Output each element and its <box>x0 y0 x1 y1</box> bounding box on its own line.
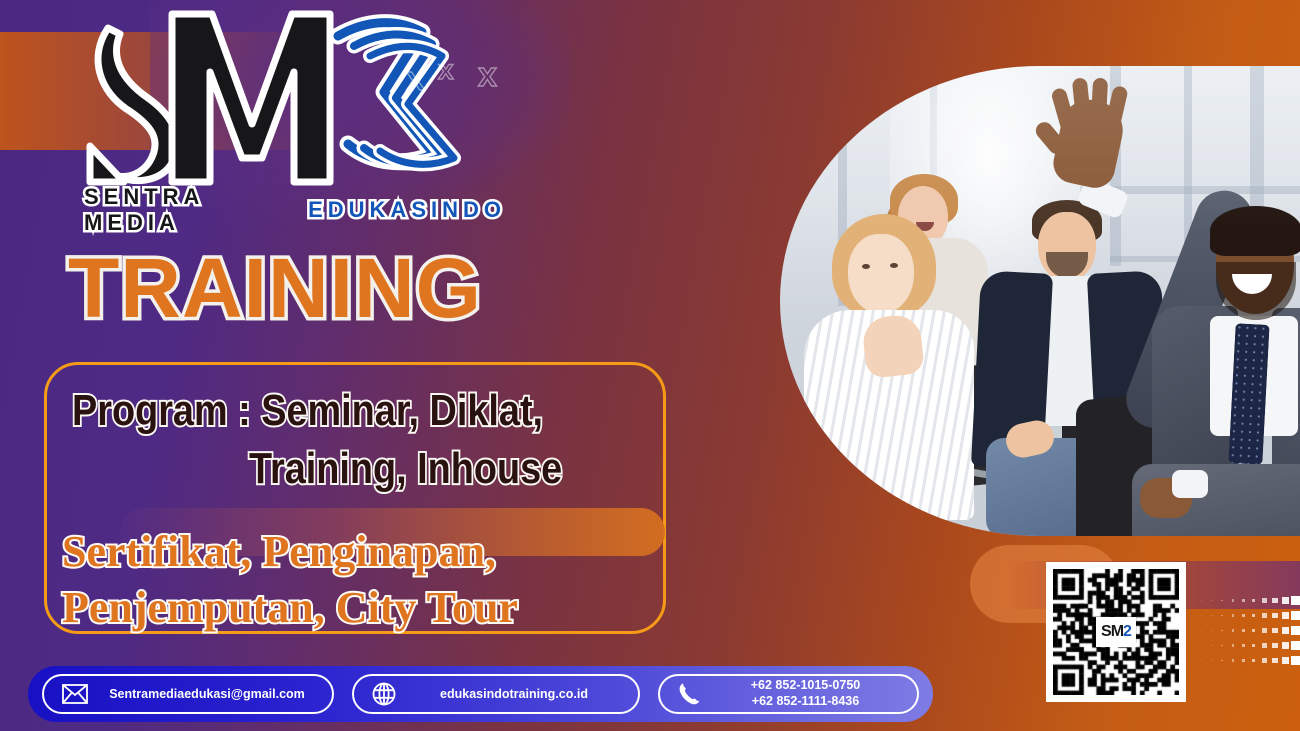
decor-dot <box>1232 644 1234 646</box>
decor-dot <box>1272 613 1278 619</box>
contact-phone-1: +62 852-1015-0750 <box>712 678 899 694</box>
seminar-photo <box>780 66 1300 536</box>
logo-wordmark: SENTRA MEDIA EDUKASINDO <box>84 184 506 236</box>
promo-banner: x x x SENTRA MEDIA EDUKASINDO TRAINING P… <box>0 0 1300 731</box>
contact-phone-2: +62 852-1111-8436 <box>712 694 899 710</box>
decor-dot <box>1242 614 1245 617</box>
qr-code[interactable]: SM2 <box>1046 562 1186 702</box>
decor-dot <box>1272 658 1278 664</box>
decor-dot <box>1201 600 1202 601</box>
decor-dot <box>1291 656 1300 665</box>
page-title: TRAINING <box>68 246 482 330</box>
photo-scene <box>780 66 1300 536</box>
contact-website-text: edukasindotraining.co.id <box>408 687 620 701</box>
decor-dot <box>1232 614 1234 616</box>
decor-dot <box>1262 628 1267 633</box>
decor-dot <box>1272 628 1278 634</box>
services-line-2: Penjemputan, City Tour <box>62 580 662 636</box>
decor-dot <box>1201 660 1202 661</box>
decor-dot <box>1242 644 1245 647</box>
contact-phone[interactable]: +62 852-1015-0750 +62 852-1111-8436 <box>658 674 919 714</box>
contact-email-text: Sentramediaedukasi@gmail.com <box>100 687 314 701</box>
decor-dot <box>1282 657 1289 664</box>
decor-dot <box>1211 630 1212 631</box>
company-logo: x x x SENTRA MEDIA EDUKASINDO <box>66 6 506 216</box>
decor-dot <box>1282 642 1289 649</box>
decor-dot <box>1291 641 1300 650</box>
decor-x-icon-2: x <box>438 56 454 84</box>
decor-dot <box>1221 600 1223 602</box>
decor-dot <box>1252 644 1256 648</box>
logo-mark-icon <box>66 6 506 191</box>
decor-dot <box>1272 598 1278 604</box>
decor-dot <box>1252 599 1256 603</box>
decor-dot <box>1232 629 1234 631</box>
decor-dot <box>1282 612 1289 619</box>
decor-dot <box>1262 658 1267 663</box>
decor-dot <box>1242 629 1245 632</box>
qr-center-dark: SM <box>1101 623 1123 641</box>
services-line-1: Sertifikat, Penginapan, <box>62 524 662 580</box>
decor-dot <box>1252 659 1256 663</box>
decor-dot <box>1211 660 1212 661</box>
decor-dot <box>1221 630 1223 632</box>
globe-icon <box>372 682 396 706</box>
decor-dot-grid <box>1196 596 1300 674</box>
services-list: Sertifikat, Penginapan, Penjemputan, Cit… <box>62 524 662 637</box>
decor-dot <box>1272 643 1278 649</box>
decor-dot <box>1252 614 1256 618</box>
program-line-2: Training, Inhouse <box>72 440 562 498</box>
decor-dot <box>1262 643 1267 648</box>
decor-dot <box>1242 659 1245 662</box>
decor-dot <box>1252 629 1256 633</box>
decor-dot <box>1211 615 1212 616</box>
qr-center-blue: 2 <box>1123 623 1131 641</box>
contact-bar: Sentramediaedukasi@gmail.com edukasindot… <box>28 666 933 722</box>
decor-dot <box>1232 599 1234 601</box>
decor-x-icon-3: x <box>478 58 497 92</box>
decor-dot <box>1211 600 1212 601</box>
decor-x-icon-1: x <box>406 62 425 96</box>
contact-email[interactable]: Sentramediaedukasi@gmail.com <box>42 674 334 714</box>
envelope-icon <box>62 684 88 704</box>
decor-dot <box>1262 598 1267 603</box>
program-list: Program : Seminar, Diklat, Training, Inh… <box>72 382 562 498</box>
logo-word-dark: SENTRA MEDIA <box>84 184 301 236</box>
qr-center-logo: SM2 <box>1096 617 1136 647</box>
decor-dot <box>1282 597 1289 604</box>
decor-dot <box>1201 645 1202 646</box>
program-line-1: Program : Seminar, Diklat, <box>72 382 562 440</box>
contact-website[interactable]: edukasindotraining.co.id <box>352 674 640 714</box>
decor-dot <box>1242 599 1245 602</box>
decor-dot <box>1221 615 1223 617</box>
contact-phone-numbers: +62 852-1015-0750 +62 852-1111-8436 <box>712 678 899 710</box>
phone-icon <box>678 682 700 706</box>
decor-dot <box>1201 630 1202 631</box>
decor-dot <box>1221 645 1223 647</box>
decor-dot <box>1282 627 1289 634</box>
decor-dot <box>1232 659 1234 661</box>
decor-dot <box>1262 613 1267 618</box>
decor-dot <box>1211 645 1212 646</box>
decor-dot <box>1291 596 1300 605</box>
decor-dot <box>1291 626 1300 635</box>
decor-dot <box>1221 660 1223 662</box>
decor-dot <box>1291 611 1300 620</box>
logo-word-blue: EDUKASINDO <box>308 197 506 223</box>
decor-dot <box>1201 615 1202 616</box>
qr-matrix: SM2 <box>1053 569 1179 695</box>
